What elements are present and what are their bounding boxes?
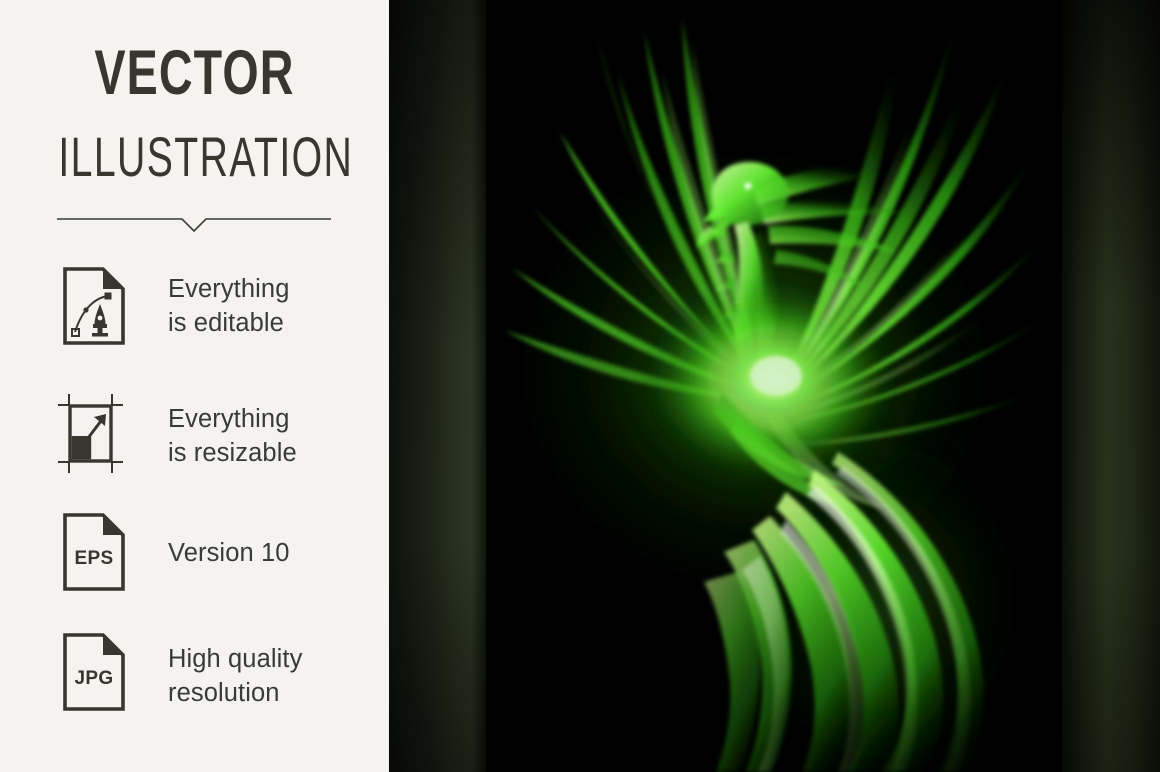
- feature-row-resizable: Everything is resizable: [0, 390, 389, 486]
- phoenix-artwork: [486, 0, 1062, 772]
- feature-label-line1: Everything: [168, 272, 383, 306]
- jpg-file-icon: JPG: [62, 632, 126, 712]
- divider: [57, 212, 331, 234]
- feature-label: Everything is resizable: [168, 402, 383, 470]
- artwork-bleed-right: [1062, 0, 1160, 772]
- resize-scale-icon: [56, 392, 134, 476]
- feature-row-editable: Everything is editable: [0, 266, 389, 362]
- feature-label-line1: Version 10: [168, 536, 383, 570]
- page-title: VECTOR ILLUSTRATION: [0, 42, 389, 185]
- jpg-file-label: JPG: [75, 668, 114, 689]
- feature-label-line1: High quality: [168, 642, 383, 676]
- feature-label-line2: is resizable: [168, 436, 383, 470]
- title-line-vector: VECTOR: [51, 42, 339, 105]
- artwork-panel: [389, 0, 1160, 772]
- divider-notch-icon: [57, 212, 331, 234]
- title-line-illustration: ILLUSTRATION: [58, 129, 330, 185]
- phoenix-illustration-icon: [486, 0, 1062, 772]
- feature-row-version: EPS Version 10: [0, 512, 389, 608]
- feature-label: High quality resolution: [168, 642, 383, 710]
- poster-stage: VECTOR ILLUSTRATION: [0, 0, 1160, 772]
- feature-label-line1: Everything: [168, 402, 383, 436]
- feature-label-line2: is editable: [168, 306, 383, 340]
- eps-file-icon: EPS: [62, 512, 126, 592]
- document-pen-tool-icon: [62, 266, 126, 346]
- feature-row-quality: JPG High quality resolution: [0, 632, 389, 728]
- eps-file-label: EPS: [75, 548, 114, 569]
- feature-label-line2: resolution: [168, 676, 383, 710]
- feature-label: Everything is editable: [168, 272, 383, 340]
- feature-label: Version 10: [168, 536, 383, 570]
- artwork-bleed-left: [389, 0, 486, 772]
- info-panel: VECTOR ILLUSTRATION: [0, 0, 389, 772]
